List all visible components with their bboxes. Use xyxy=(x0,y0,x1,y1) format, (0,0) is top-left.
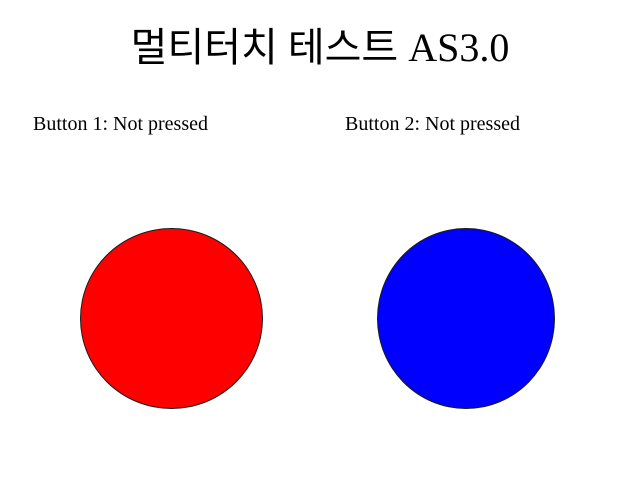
button2-status-label: Button 2: Not pressed xyxy=(345,112,520,136)
app-stage: 멀티터치 테스트 AS3.0 Button 1: Not pressed But… xyxy=(0,0,640,480)
button1-status-label: Button 1: Not pressed xyxy=(33,112,208,136)
button2-touch-circle[interactable] xyxy=(377,228,555,409)
button1-touch-circle[interactable] xyxy=(80,228,263,409)
page-title: 멀티터치 테스트 AS3.0 xyxy=(0,24,640,72)
